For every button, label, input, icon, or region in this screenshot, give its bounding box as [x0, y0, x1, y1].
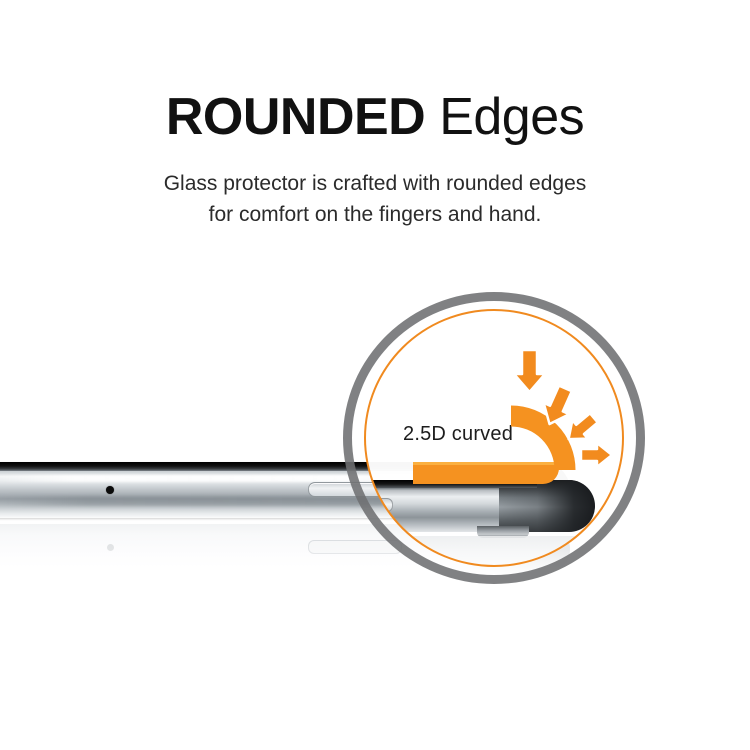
product-feature-image: ROUNDED Edges Glass protector is crafted…	[0, 0, 750, 750]
curved-edge-label: 2.5D curved	[403, 423, 513, 446]
arrow-down-1-icon	[514, 350, 545, 392]
microphone-hole-icon	[106, 486, 114, 494]
product-photo-stage: 2.5D curved	[0, 0, 750, 750]
arrow-right-4-icon	[581, 443, 612, 467]
pressure-arrows-svg	[505, 348, 625, 478]
pressure-arrows-group	[505, 348, 625, 478]
